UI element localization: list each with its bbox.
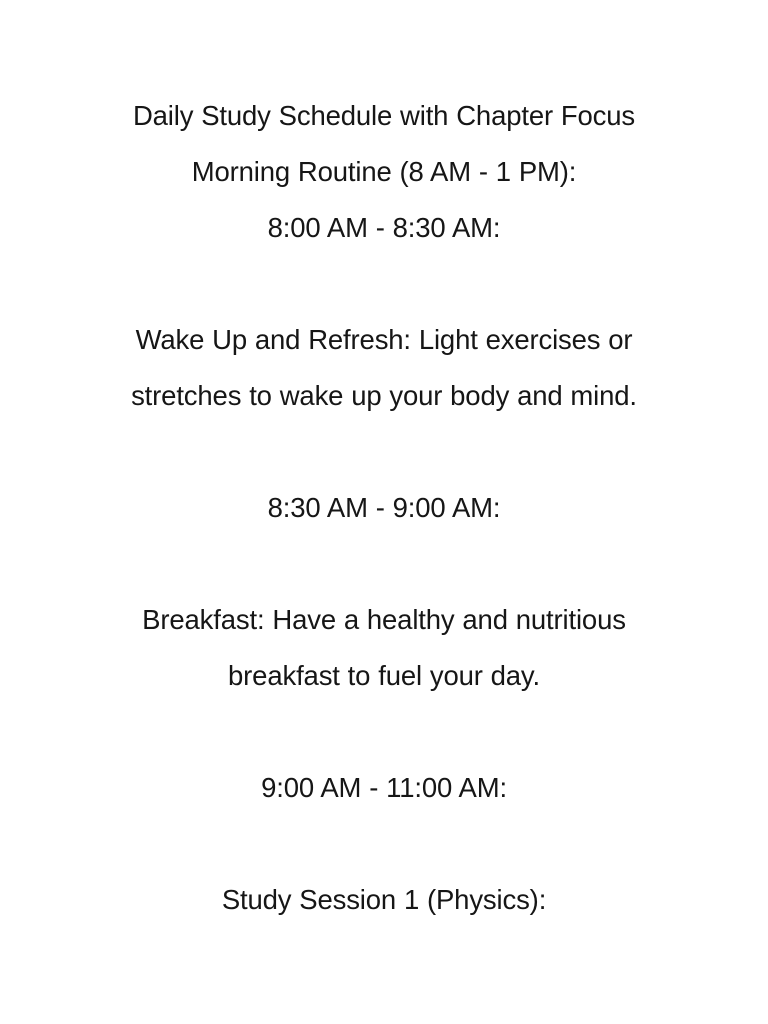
time-slot-9-00-11-00: 9:00 AM - 11:00 AM: xyxy=(112,760,656,816)
blank-line xyxy=(112,816,656,872)
blank-line xyxy=(112,424,656,480)
document-title: Daily Study Schedule with Chapter Focus xyxy=(112,88,656,144)
blank-line xyxy=(112,536,656,592)
document-page: Daily Study Schedule with Chapter Focus … xyxy=(0,0,768,1024)
time-slot-8-00-8-30: 8:00 AM - 8:30 AM: xyxy=(112,200,656,256)
section-heading-morning-routine: Morning Routine (8 AM - 1 PM): xyxy=(112,144,656,200)
blank-line xyxy=(112,704,656,760)
activity-breakfast: Breakfast: Have a healthy and nutritious… xyxy=(112,592,656,704)
blank-line xyxy=(112,256,656,312)
time-slot-8-30-9-00: 8:30 AM - 9:00 AM: xyxy=(112,480,656,536)
activity-wake-up-and-refresh: Wake Up and Refresh: Light exercises or … xyxy=(112,312,656,424)
document-body: Daily Study Schedule with Chapter Focus … xyxy=(112,88,656,928)
activity-study-session-1-physics: Study Session 1 (Physics): xyxy=(112,872,656,928)
